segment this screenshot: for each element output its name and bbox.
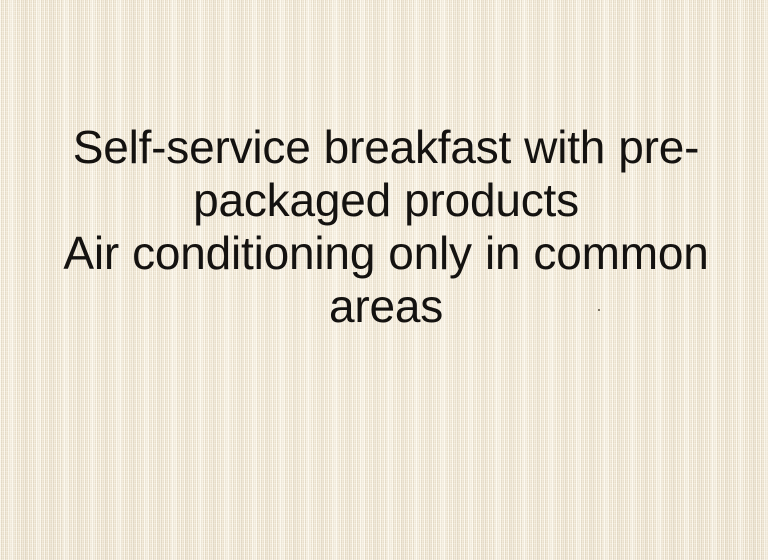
dust-speck-artifact — [598, 309, 600, 311]
caption-line-3: Air conditioning only in common — [56, 227, 716, 280]
caption-line-1: Self-service breakfast with pre- — [56, 121, 716, 174]
caption-line-2: packaged products — [56, 174, 716, 227]
slide-canvas: Self-service breakfast with pre- package… — [0, 0, 768, 560]
caption-text-block: Self-service breakfast with pre- package… — [56, 121, 716, 333]
caption-line-4: areas — [56, 280, 716, 333]
